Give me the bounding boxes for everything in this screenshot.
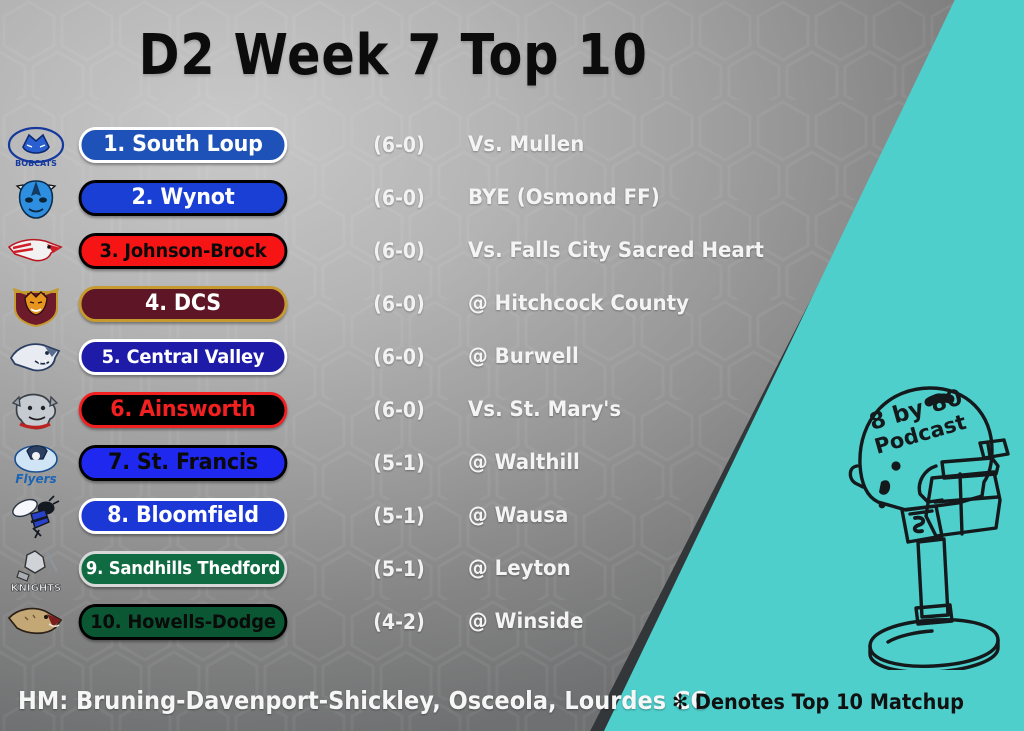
team-pill: 9. Sandhills Thedford bbox=[79, 551, 288, 587]
team-record: (5-1) bbox=[346, 504, 452, 528]
sandhills-thedford-knights-logo: KNIGHTS bbox=[0, 544, 72, 594]
team-opponent: @ Wausa bbox=[468, 503, 568, 528]
team-record: (6-0) bbox=[346, 345, 452, 369]
wynot-blue-devils-logo bbox=[0, 173, 72, 223]
team-opponent: Vs. St. Mary's bbox=[468, 397, 621, 422]
howells-dodge-jaguars-logo bbox=[0, 597, 72, 647]
team-opponent: @ Winside bbox=[468, 609, 583, 634]
ainsworth-bulldogs-logo bbox=[0, 385, 72, 435]
podcast-helmet-microphone-logo: 8 by 80 Podcast bbox=[832, 370, 1022, 670]
ranking-row: Flyers7. St. Francis(5-1)@ Walthill bbox=[0, 436, 760, 489]
team-record: (6-0) bbox=[346, 398, 452, 422]
team-record: (6-0) bbox=[346, 239, 452, 263]
rankings-list: BOBCATS1. South Loup(6-0)Vs. Mullen2. Wy… bbox=[0, 118, 760, 648]
central-valley-cougars-logo bbox=[0, 332, 72, 382]
team-record: (5-1) bbox=[346, 451, 452, 475]
ranking-row: 3. Johnson-Brock(6-0)Vs. Falls City Sacr… bbox=[0, 224, 760, 277]
south-loup-bobcats-logo: BOBCATS bbox=[0, 120, 72, 170]
team-pill: 10. Howells-Dodge bbox=[79, 604, 288, 640]
svg-text:BOBCATS: BOBCATS bbox=[15, 159, 57, 168]
bloomfield-bees-logo bbox=[0, 491, 72, 541]
st-francis-flyers-logo: Flyers bbox=[0, 438, 72, 488]
denotes-legend: ✻ Denotes Top 10 Matchup bbox=[672, 690, 964, 714]
ranking-row: 10. Howells-Dodge(4-2)@ Winside bbox=[0, 595, 760, 648]
team-pill: 7. St. Francis bbox=[79, 445, 288, 481]
team-opponent: @ Hitchcock County bbox=[468, 291, 689, 316]
svg-text:Flyers: Flyers bbox=[15, 472, 56, 486]
svg-text:KNIGHTS: KNIGHTS bbox=[11, 583, 61, 593]
team-pill: 1. South Loup bbox=[79, 127, 288, 163]
ranking-graphic: D2 Week 7 Top 10 BOBCATS1. South Loup(6-… bbox=[0, 0, 1024, 731]
team-opponent: @ Burwell bbox=[468, 344, 579, 369]
johnson-brock-eagles-logo bbox=[0, 226, 72, 276]
ranking-row: KNIGHTS9. Sandhills Thedford(5-1)@ Leyto… bbox=[0, 542, 760, 595]
ranking-row: 5. Central Valley(6-0)@ Burwell bbox=[0, 330, 760, 383]
team-opponent: @ Walthill bbox=[468, 450, 580, 475]
team-opponent: Vs. Falls City Sacred Heart bbox=[468, 238, 764, 263]
team-pill: 4. DCS bbox=[79, 286, 288, 322]
dcs-tigers-logo bbox=[0, 279, 72, 329]
team-record: (6-0) bbox=[346, 133, 452, 157]
honorable-mentions: HM: Bruning-Davenport-Shickley, Osceola,… bbox=[18, 686, 707, 715]
team-pill: 3. Johnson-Brock bbox=[79, 233, 288, 269]
ranking-row: 2. Wynot(6-0)BYE (Osmond FF) bbox=[0, 171, 760, 224]
ranking-row: 6. Ainsworth(6-0)Vs. St. Mary's bbox=[0, 383, 760, 436]
page-title: D2 Week 7 Top 10 bbox=[61, 23, 962, 88]
team-opponent: @ Leyton bbox=[468, 556, 571, 581]
team-record: (6-0) bbox=[346, 292, 452, 316]
team-pill: 5. Central Valley bbox=[79, 339, 288, 375]
team-opponent: BYE (Osmond FF) bbox=[468, 185, 660, 210]
ranking-row: 8. Bloomfield(5-1)@ Wausa bbox=[0, 489, 760, 542]
team-pill: 2. Wynot bbox=[79, 180, 288, 216]
team-record: (6-0) bbox=[346, 186, 452, 210]
team-record: (4-2) bbox=[346, 610, 452, 634]
team-pill: 6. Ainsworth bbox=[79, 392, 288, 428]
team-pill: 8. Bloomfield bbox=[79, 498, 288, 534]
team-opponent: Vs. Mullen bbox=[468, 132, 584, 157]
ranking-row: BOBCATS1. South Loup(6-0)Vs. Mullen bbox=[0, 118, 760, 171]
ranking-row: 4. DCS(6-0)@ Hitchcock County bbox=[0, 277, 760, 330]
team-record: (5-1) bbox=[346, 557, 452, 581]
